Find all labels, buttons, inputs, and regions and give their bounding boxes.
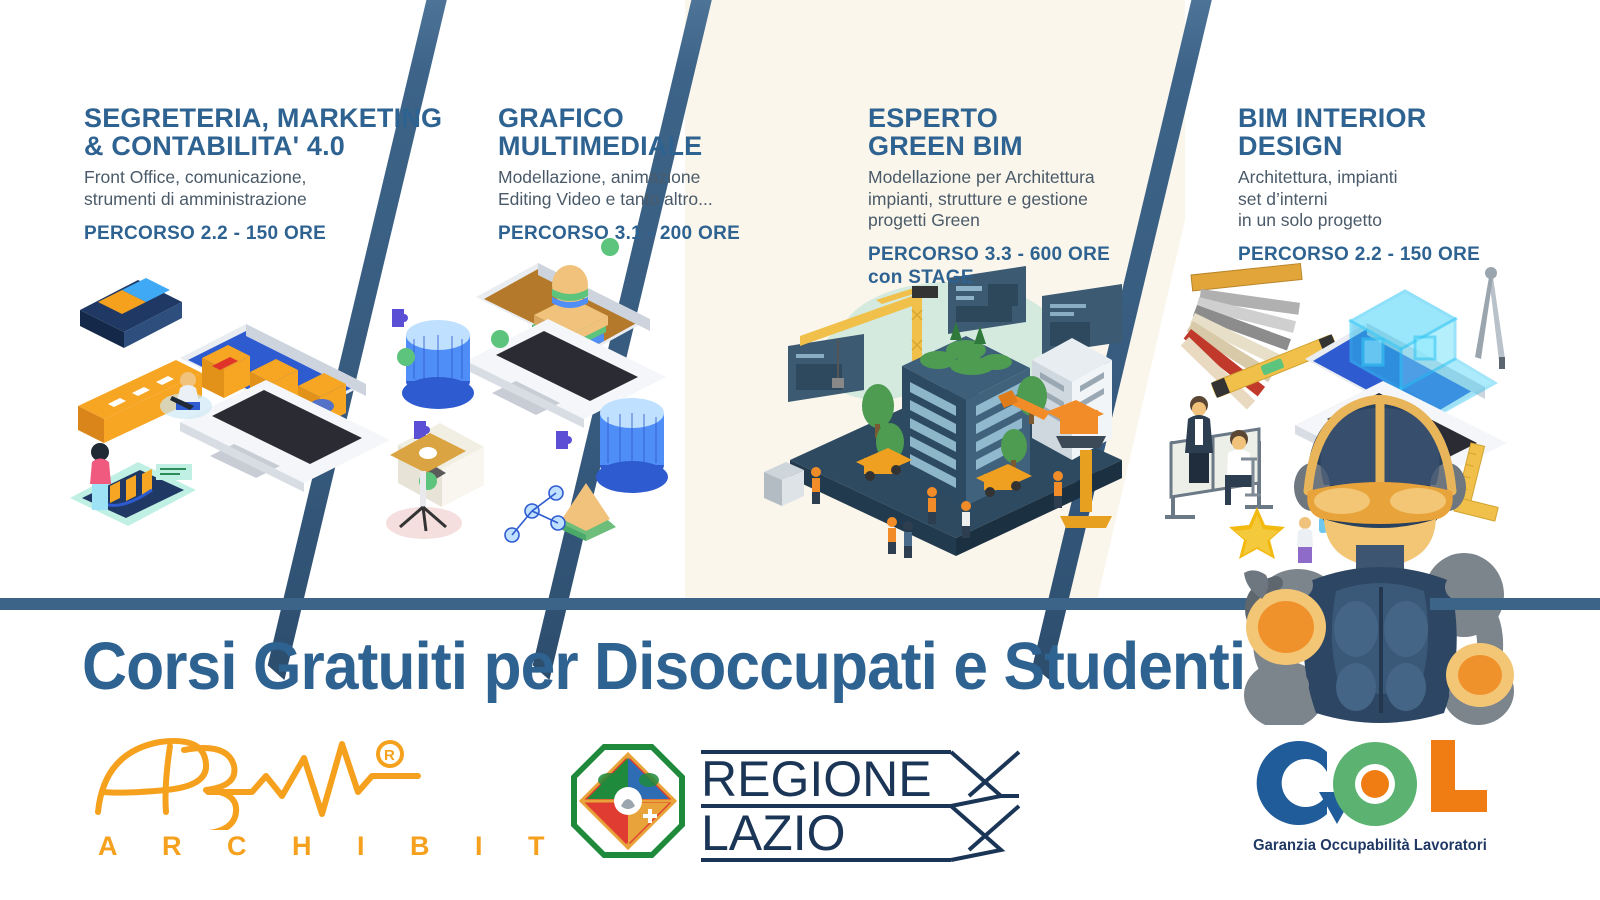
course-title-4: BIM INTERIOR DESIGN: [1238, 104, 1518, 160]
course-hours-3-line2: con STAGE: [868, 267, 1168, 289]
course-subtitle-3-line1: Modellazione per Architettura: [868, 167, 1168, 188]
course-text-1: SEGRETERIA, MARKETING & CONTABILITA' 4.0…: [84, 104, 484, 245]
logo-gol[interactable]: Garanzia Occupabilità Lavoratori: [1245, 728, 1495, 855]
course-subtitle-1-line2: strumenti di amministrazione: [84, 189, 484, 210]
course-hours-4: PERCORSO 2.2 - 150 ORE: [1238, 244, 1518, 266]
course-title-1: SEGRETERIA, MARKETING & CONTABILITA' 4.0: [84, 104, 484, 160]
svg-text:R: R: [384, 747, 395, 764]
regione-lazio-line2: LAZIO: [701, 805, 845, 861]
course-subtitle-4: Architettura, impianti set d’interni in …: [1238, 167, 1518, 231]
course-text-4: BIM INTERIOR DESIGN Architettura, impian…: [1238, 104, 1518, 267]
course-title-2: GRAFICO MULTIMEDIALE: [498, 104, 788, 160]
archibit-robot-mascot: [1240, 395, 1520, 730]
course-subtitle-3-line2: impianti, strutture e gestione: [868, 189, 1168, 210]
course-title-3-line1: ESPERTO: [868, 104, 1168, 132]
course-subtitle-3-line3: progetti Green: [868, 210, 1168, 231]
illustration-green-bim: [760, 260, 1150, 565]
course-title-4-line2: DESIGN: [1238, 132, 1518, 160]
gol-icon: [1245, 728, 1495, 838]
course-subtitle-2-line1: Modellazione, animazione: [498, 167, 788, 188]
course-hours-1: PERCORSO 2.2 - 150 ORE: [84, 223, 484, 245]
archibit-ab-pulse-icon: R: [88, 730, 428, 830]
course-subtitle-2: Modellazione, animazione Editing Video e…: [498, 167, 788, 210]
course-subtitle-3: Modellazione per Architettura impianti, …: [868, 167, 1168, 231]
regione-lazio-line1: REGIONE: [701, 751, 932, 807]
course-subtitle-2-line2: Editing Video e tanto altro...: [498, 189, 788, 210]
course-subtitle-1-line1: Front Office, comunicazione,: [84, 167, 484, 188]
course-hours-4-line1: PERCORSO 2.2 - 150 ORE: [1238, 244, 1518, 266]
banner-headline: Corsi Gratuiti per Disoccupati e Student…: [82, 628, 1245, 705]
course-hours-1-line1: PERCORSO 2.2 - 150 ORE: [84, 223, 484, 245]
course-title-1-line1: SEGRETERIA, MARKETING: [84, 104, 484, 132]
course-promo-banner: SEGRETERIA, MARKETING & CONTABILITA' 4.0…: [0, 0, 1600, 900]
logo-row: R A R C H I B I T: [0, 720, 1600, 900]
course-subtitle-4-line2: set d’interni: [1238, 189, 1518, 210]
course-subtitle-4-line3: in un solo progetto: [1238, 210, 1518, 231]
course-hours-2: PERCORSO 3.1 - 200 ORE: [498, 223, 788, 245]
course-title-3-line2: GREEN BIM: [868, 132, 1168, 160]
logo-archibit[interactable]: R A R C H I B I T: [88, 730, 564, 862]
logo-regione-lazio[interactable]: REGIONE LAZIO: [565, 738, 1025, 873]
course-text-3: ESPERTO GREEN BIM Modellazione per Archi…: [868, 104, 1168, 289]
regione-lazio-coat-of-arms-icon: [571, 744, 685, 858]
gol-tagline: Garanzia Occupabilità Lavoratori: [1251, 837, 1489, 855]
course-title-1-line2: & CONTABILITA' 4.0: [84, 132, 484, 160]
archibit-wordmark: A R C H I B I T: [98, 831, 564, 862]
course-hours-2-line1: PERCORSO 3.1 - 200 ORE: [498, 223, 788, 245]
course-title-2-line1: GRAFICO: [498, 104, 788, 132]
course-title-2-line2: MULTIMEDIALE: [498, 132, 788, 160]
course-subtitle-1: Front Office, comunicazione, strumenti d…: [84, 167, 484, 210]
course-title-3: ESPERTO GREEN BIM: [868, 104, 1168, 160]
illustration-marketing: [60, 240, 400, 575]
course-text-2: GRAFICO MULTIMEDIALE Modellazione, anima…: [498, 104, 788, 245]
course-title-4-line1: BIM INTERIOR: [1238, 104, 1518, 132]
course-hours-3: PERCORSO 3.3 - 600 ORE con STAGE: [868, 244, 1168, 289]
horizontal-rule-right-segment: [1430, 598, 1600, 610]
illustration-multimedia: [380, 235, 680, 570]
course-subtitle-4-line1: Architettura, impianti: [1238, 167, 1518, 188]
course-hours-3-line1: PERCORSO 3.3 - 600 ORE: [868, 244, 1168, 266]
